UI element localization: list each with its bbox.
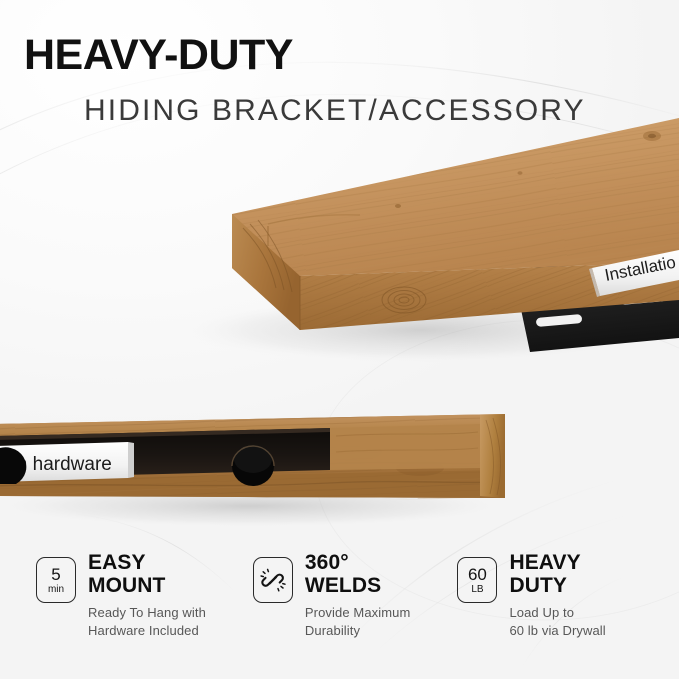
feature-heading-line2: WELDS	[305, 575, 411, 598]
feature-text: EASY MOUNT Ready To Hang with Hardware I…	[88, 552, 206, 639]
feature-sub-line1: Load Up to	[509, 604, 605, 621]
badge-number: 60	[468, 566, 487, 583]
feature-sub-line2: Hardware Included	[88, 622, 206, 639]
feature-heading-line2: DUTY	[509, 575, 605, 598]
headline-main: HEAVY-DUTY	[24, 34, 293, 77]
feature-row: 5 min EASY MOUNT Ready To Hang with Hard…	[0, 552, 679, 662]
chain-weld-icon	[253, 558, 293, 602]
feature-sub-line1: Provide Maximum	[305, 604, 411, 621]
feature-sub-line2: 60 lb via Drywall	[509, 622, 605, 639]
badge-unit: LB	[471, 585, 483, 595]
feature-easy-mount: 5 min EASY MOUNT Ready To Hang with Hard…	[36, 552, 206, 639]
feature-heading-line1: EASY	[88, 552, 206, 575]
feature-sub-line2: Durability	[305, 622, 411, 639]
feature-heading-line1: 360°	[305, 552, 411, 575]
chain-weld-icon-badge	[253, 557, 293, 603]
badge-number: 5	[51, 566, 60, 583]
feature-360-welds: 360° WELDS Provide Maximum Durability	[253, 552, 411, 639]
badge-unit: min	[48, 585, 64, 595]
product-marketing-image: Installatio	[0, 0, 679, 679]
headline-sub: HIDING BRACKET/ACCESSORY	[84, 96, 586, 126]
feature-sub-line1: Ready To Hang with	[88, 604, 206, 621]
clock-badge-icon: 5 min	[36, 557, 76, 603]
weight-badge-icon: 60 LB	[457, 557, 497, 603]
feature-heavy-duty: 60 LB HEAVY DUTY Load Up to 60 lb via Dr…	[457, 552, 605, 639]
feature-heading-line1: HEAVY	[509, 552, 605, 575]
feature-text: HEAVY DUTY Load Up to 60 lb via Drywall	[509, 552, 605, 639]
feature-heading-line2: MOUNT	[88, 575, 206, 598]
feature-text: 360° WELDS Provide Maximum Durability	[305, 552, 411, 639]
